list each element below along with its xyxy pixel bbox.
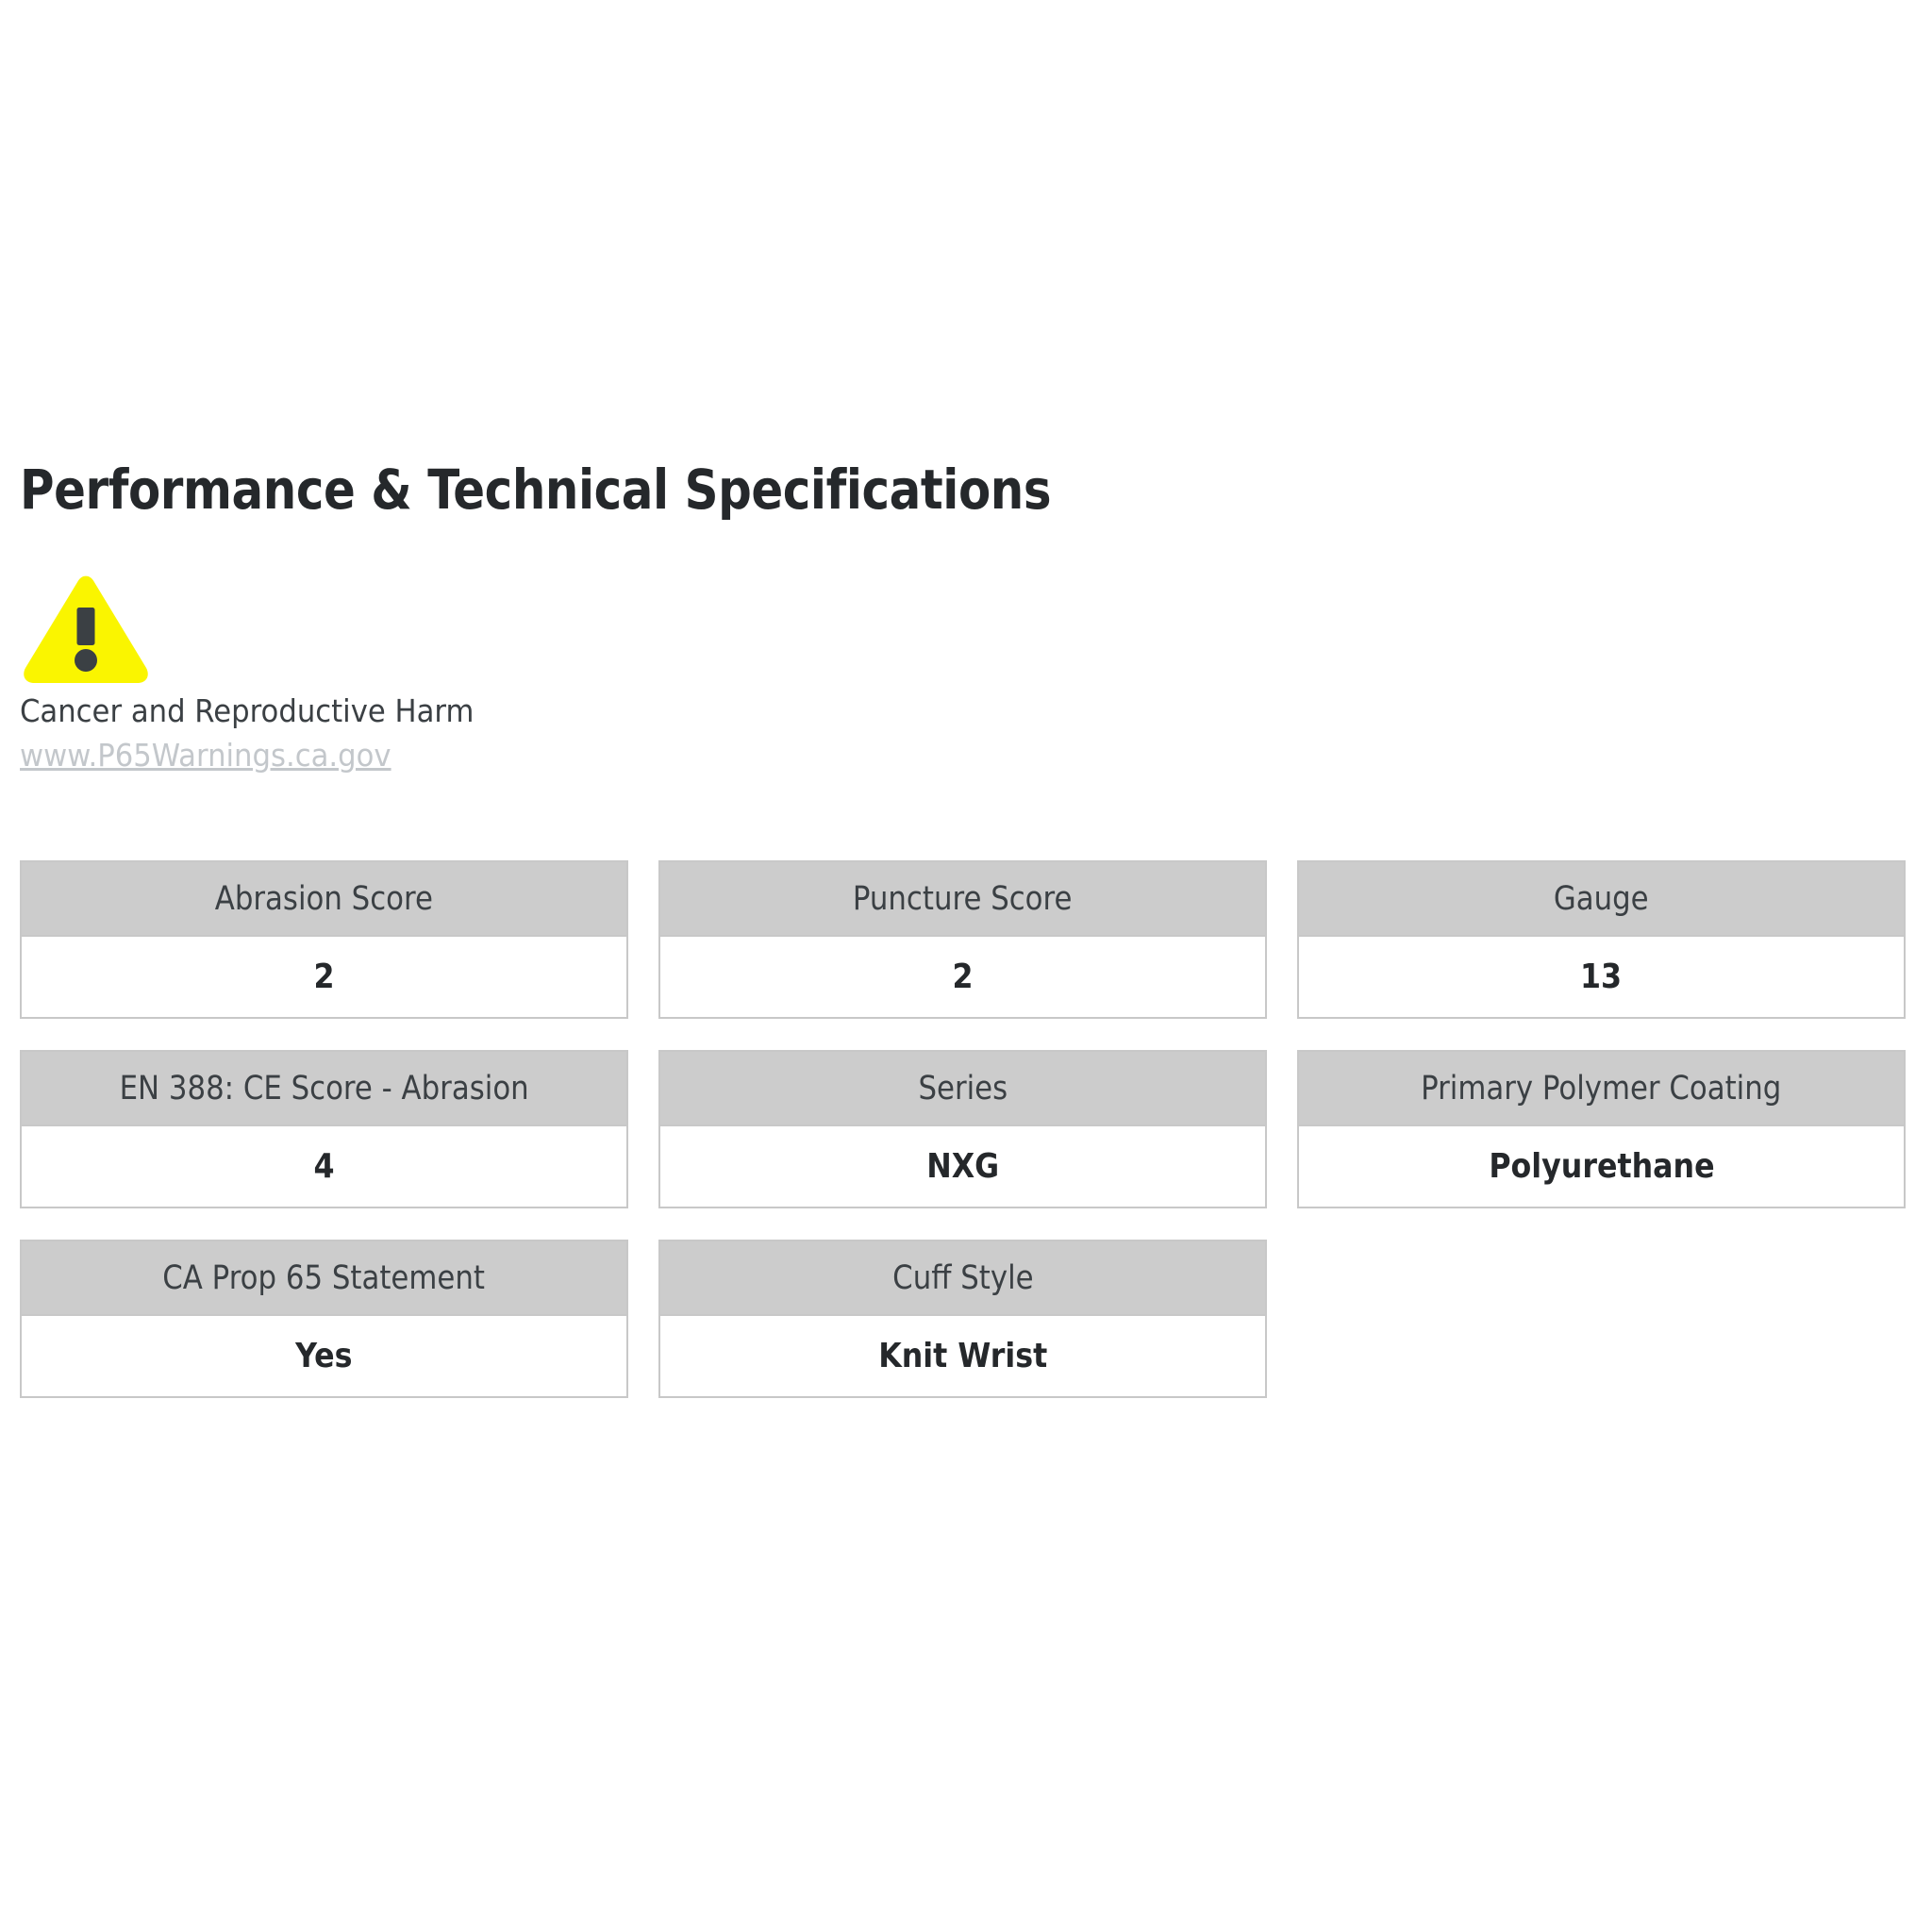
spec-card: Abrasion Score 2: [20, 860, 628, 1019]
specifications-page: Performance & Technical Specifications C…: [0, 0, 1932, 1932]
spec-card-header: Puncture Score: [660, 862, 1265, 937]
spec-card-body: 4: [22, 1126, 626, 1207]
spec-card-header: CA Prop 65 Statement: [22, 1241, 626, 1316]
prop65-warning-block: Cancer and Reproductive Harm www.P65Warn…: [20, 574, 737, 779]
prop65-warning-text: Cancer and Reproductive Harm: [20, 691, 687, 732]
spec-card-value: 2: [952, 958, 973, 996]
spec-card-header: Primary Polymer Coating: [1299, 1052, 1904, 1126]
spec-card-header: Series: [660, 1052, 1265, 1126]
spec-card-grid: Abrasion Score 2 Puncture Score 2 Gauge …: [20, 860, 1901, 1398]
spec-card: Primary Polymer Coating Polyurethane: [1297, 1050, 1906, 1208]
spec-card-label: CA Prop 65 Statement: [163, 1259, 486, 1297]
spec-card: Cuff Style Knit Wrist: [658, 1240, 1267, 1398]
page-title: Performance & Technical Specifications: [20, 458, 1051, 522]
spec-card-value: NXG: [926, 1148, 999, 1186]
spec-card: Puncture Score 2: [658, 860, 1267, 1019]
spec-card: CA Prop 65 Statement Yes: [20, 1240, 628, 1398]
spec-card-value: 4: [313, 1148, 334, 1186]
spec-card-body: 2: [660, 937, 1265, 1017]
spec-card-body: 2: [22, 937, 626, 1017]
spec-card: Gauge 13: [1297, 860, 1906, 1019]
spec-card-label: Puncture Score: [853, 880, 1073, 918]
prop65-warning-link[interactable]: www.P65Warnings.ca.gov: [20, 732, 391, 779]
spec-card-label: Abrasion Score: [215, 880, 433, 918]
spec-card-label: Series: [918, 1070, 1008, 1108]
spec-card-value: 2: [313, 958, 334, 996]
spec-card-header: Cuff Style: [660, 1241, 1265, 1316]
spec-card-body: Yes: [22, 1316, 626, 1396]
spec-card-label: Cuff Style: [892, 1259, 1033, 1297]
spec-card: EN 388: CE Score - Abrasion 4: [20, 1050, 628, 1208]
spec-card-label: Gauge: [1554, 880, 1649, 918]
spec-card-body: 13: [1299, 937, 1904, 1017]
spec-card: Series NXG: [658, 1050, 1267, 1208]
spec-card-header: Abrasion Score: [22, 862, 626, 937]
warning-triangle-icon: [20, 574, 152, 685]
spec-card-label: EN 388: CE Score - Abrasion: [119, 1070, 528, 1108]
spec-card-body: NXG: [660, 1126, 1265, 1207]
spec-card-value: Yes: [295, 1338, 352, 1375]
spec-card-label: Primary Polymer Coating: [1421, 1070, 1781, 1108]
spec-card-value: 13: [1580, 958, 1622, 996]
spec-card-body: Polyurethane: [1299, 1126, 1904, 1207]
spec-card-body: Knit Wrist: [660, 1316, 1265, 1396]
spec-card-header: EN 388: CE Score - Abrasion: [22, 1052, 626, 1126]
spec-card-value: Knit Wrist: [878, 1338, 1047, 1375]
spec-card-header: Gauge: [1299, 862, 1904, 937]
spec-card-value: Polyurethane: [1489, 1148, 1714, 1186]
